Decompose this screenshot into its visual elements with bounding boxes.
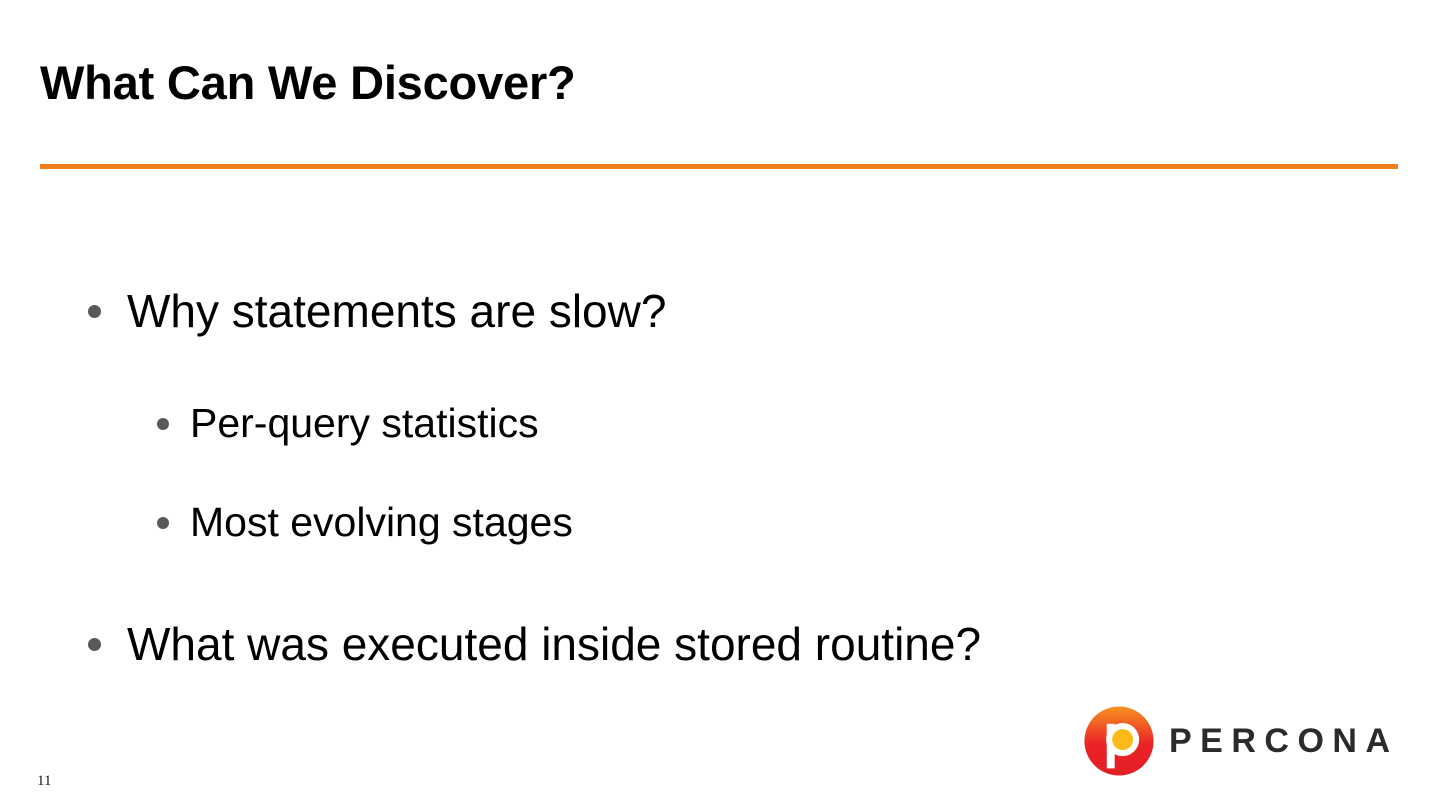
bullet-dot-icon (157, 517, 169, 529)
page-title: What Can We Discover? (40, 52, 1400, 114)
list-item: Why statements are slow? (88, 282, 1388, 340)
list-item-label: What was executed inside stored routine? (127, 615, 981, 673)
percona-wordmark: PERCONA (1169, 724, 1399, 758)
bullet-dot-icon (88, 638, 101, 651)
list-item-label: Most evolving stages (190, 496, 573, 548)
slide-canvas: What Can We Discover? Why statements are… (0, 0, 1440, 811)
title-divider (40, 164, 1398, 169)
list-item-label: Why statements are slow? (127, 282, 666, 340)
bullet-dot-icon (88, 305, 101, 318)
list-item-label: Per-query statistics (190, 397, 539, 449)
list-item: Per-query statistics (157, 397, 1388, 449)
percona-logo: PERCONA (1083, 702, 1403, 780)
bullet-dot-icon (157, 418, 169, 430)
page-number: 11 (37, 772, 51, 790)
list-item: Most evolving stages (157, 496, 1388, 548)
bullet-list: Why statements are slow? Per-query stati… (88, 270, 1388, 673)
percona-p-circle-icon (1083, 705, 1155, 777)
list-item: What was executed inside stored routine? (88, 615, 1388, 673)
